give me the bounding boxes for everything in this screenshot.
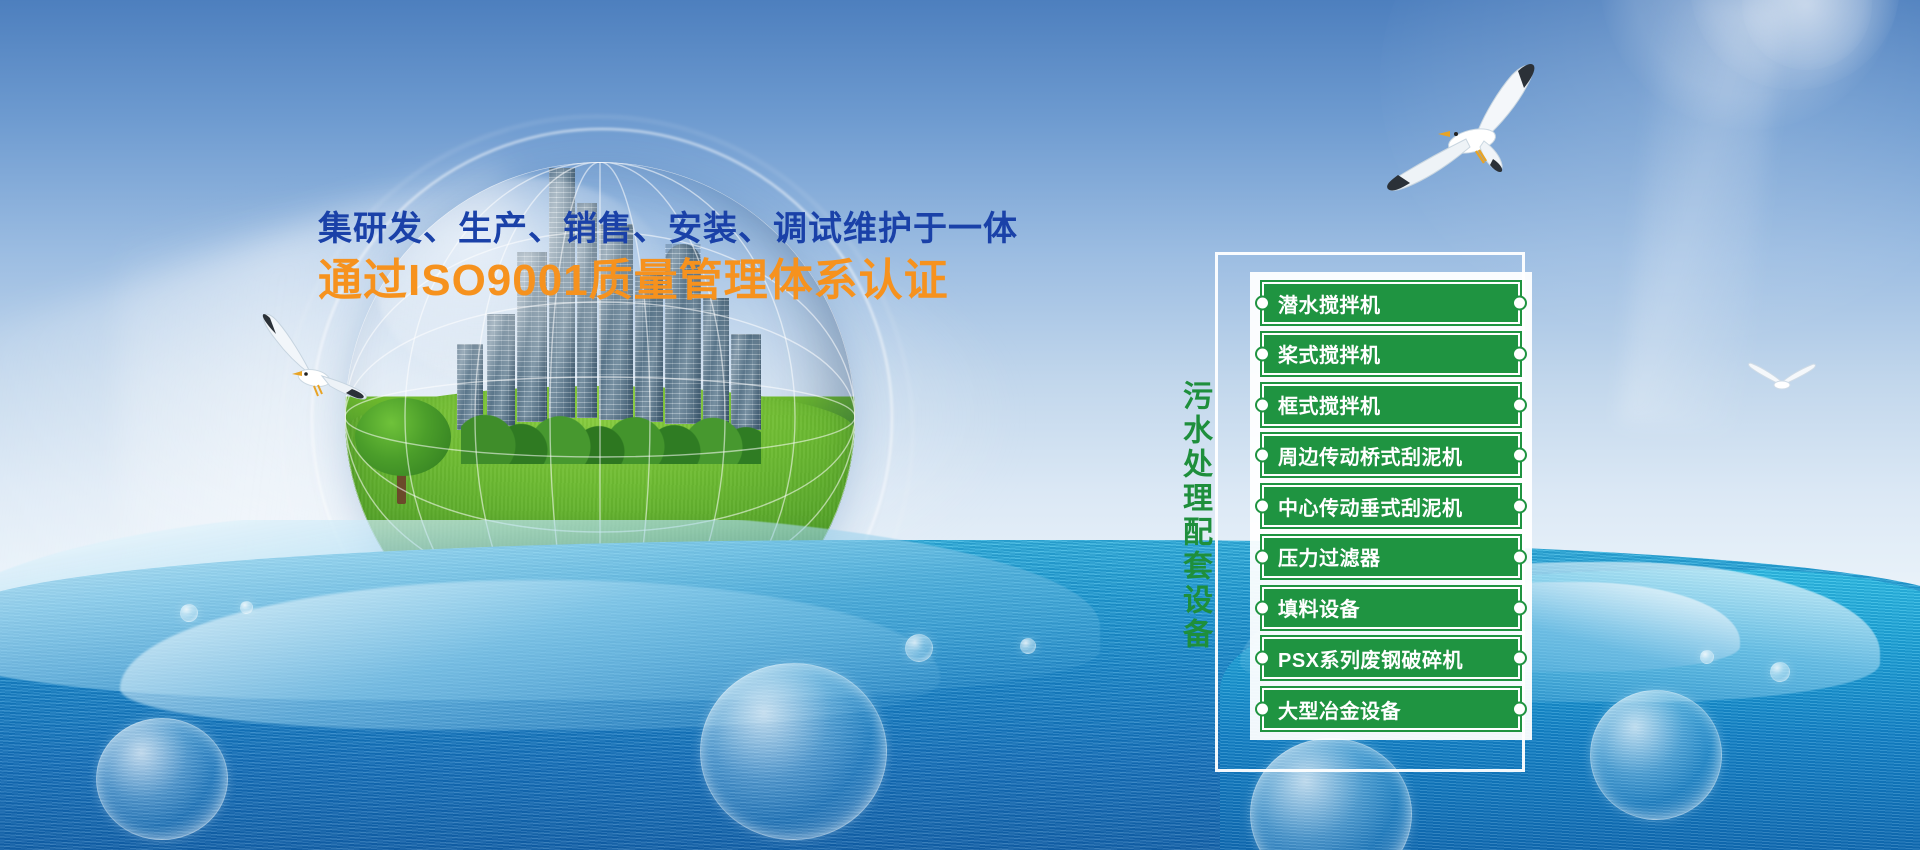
- product-item[interactable]: 压力过滤器: [1262, 536, 1520, 578]
- light-bloom-icon: [1600, 0, 1900, 130]
- seagull-icon: [1745, 358, 1819, 402]
- product-item-label: 周边传动桥式刮泥机: [1278, 441, 1463, 470]
- product-item-label: PSX系列废钢破碎机: [1278, 644, 1463, 673]
- seagull-icon: [1380, 55, 1565, 200]
- product-item[interactable]: 大型冶金设备: [1262, 688, 1520, 730]
- knob-icon: [1512, 448, 1527, 463]
- light-bloom-icon: [1742, 0, 1872, 70]
- knob-icon: [1255, 600, 1270, 615]
- product-item-label: 框式搅拌机: [1278, 390, 1381, 419]
- knob-icon: [1512, 549, 1527, 564]
- knob-icon: [1255, 702, 1270, 717]
- product-item-label: 桨式搅拌机: [1278, 339, 1381, 368]
- headline-block: 集研发、生产、销售、安装、调试维护于一体 通过ISO9001质量管理体系认证: [318, 208, 958, 308]
- product-item[interactable]: 周边传动桥式刮泥机: [1262, 434, 1520, 476]
- ocean-water-graphic: [0, 520, 1920, 850]
- knob-icon: [1255, 397, 1270, 412]
- knob-icon: [1255, 549, 1270, 564]
- product-item-label: 填料设备: [1278, 593, 1360, 622]
- product-item[interactable]: 潜水搅拌机: [1262, 282, 1520, 324]
- product-item-label: 压力过滤器: [1278, 542, 1381, 571]
- product-item-label: 潜水搅拌机: [1278, 289, 1381, 318]
- knob-icon: [1512, 702, 1527, 717]
- knob-icon: [1512, 296, 1527, 311]
- knob-icon: [1255, 296, 1270, 311]
- tree-line: [461, 402, 761, 464]
- product-item[interactable]: PSX系列废钢破碎机: [1262, 637, 1520, 679]
- product-panel-vertical-label: 污水处理配套设备: [1168, 380, 1210, 652]
- knob-icon: [1512, 651, 1527, 666]
- product-item[interactable]: 中心传动垂式刮泥机: [1262, 485, 1520, 527]
- light-bloom-icon: [1690, 0, 1900, 90]
- knob-icon: [1255, 346, 1270, 361]
- headline-line-2: 通过ISO9001质量管理体系认证: [318, 253, 958, 308]
- headline-line-1: 集研发、生产、销售、安装、调试维护于一体: [318, 208, 958, 251]
- knob-icon: [1512, 397, 1527, 412]
- knob-icon: [1512, 499, 1527, 514]
- product-list: 潜水搅拌机 桨式搅拌机 框式搅拌机 周边传动桥式刮泥机 中心传动垂式刮泥机 压力…: [1250, 272, 1532, 740]
- product-item[interactable]: 填料设备: [1262, 587, 1520, 629]
- knob-icon: [1255, 651, 1270, 666]
- hero-banner: 集研发、生产、销售、安装、调试维护于一体 通过ISO9001质量管理体系认证: [0, 0, 1920, 850]
- knob-icon: [1255, 499, 1270, 514]
- light-streak: [1618, 0, 1782, 435]
- product-item-label: 中心传动垂式刮泥机: [1278, 492, 1463, 521]
- knob-icon: [1512, 600, 1527, 615]
- knob-icon: [1512, 346, 1527, 361]
- product-item[interactable]: 框式搅拌机: [1262, 384, 1520, 426]
- product-item-label: 大型冶金设备: [1278, 695, 1401, 724]
- tree-canopy-icon: [355, 398, 451, 476]
- knob-icon: [1255, 448, 1270, 463]
- product-item[interactable]: 桨式搅拌机: [1262, 333, 1520, 375]
